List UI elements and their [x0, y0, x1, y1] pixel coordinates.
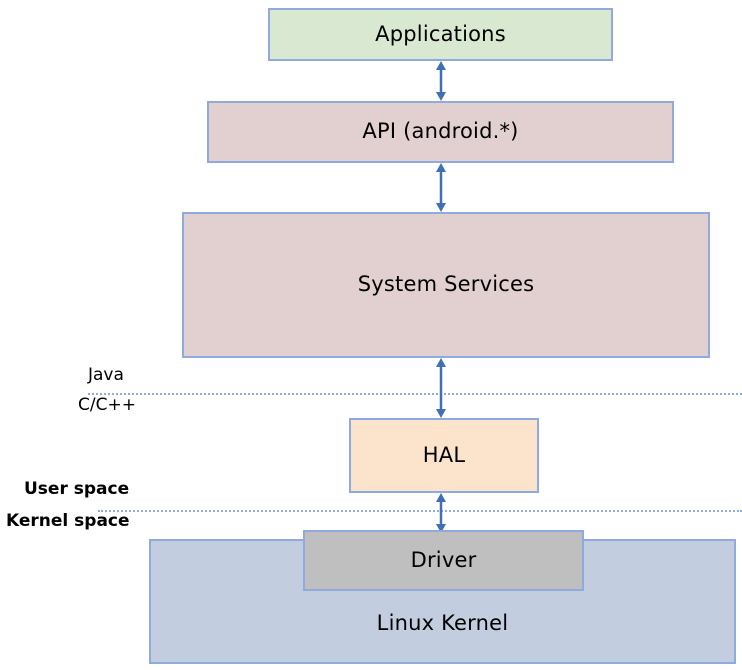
divider-user-kernel — [98, 510, 742, 512]
box-linux-kernel-label: Linux Kernel — [377, 612, 509, 635]
box-applications-label: Applications — [375, 23, 506, 46]
box-system-services-label: System Services — [358, 273, 535, 296]
divider-label-cpp: C/C++ — [78, 396, 136, 416]
divider-label-user-space: User space — [24, 480, 129, 500]
box-driver-label: Driver — [411, 549, 477, 572]
box-applications[interactable]: Applications — [268, 8, 613, 61]
box-driver[interactable]: Driver — [303, 530, 584, 591]
box-api[interactable]: API (android.*) — [207, 101, 674, 163]
arrow-api-system-services — [434, 163, 448, 212]
divider-java-native — [88, 393, 742, 395]
box-hal-label: HAL — [423, 444, 465, 467]
architecture-diagram: Applications API (android.*) System Serv… — [0, 0, 742, 670]
arrow-system-services-hal — [434, 358, 448, 418]
box-system-services[interactable]: System Services — [182, 212, 710, 358]
divider-label-kernel-space: Kernel space — [6, 512, 130, 532]
divider-label-java: Java — [88, 366, 124, 386]
box-api-label: API (android.*) — [362, 120, 518, 143]
box-hal[interactable]: HAL — [349, 418, 539, 493]
arrow-applications-api — [434, 61, 448, 101]
arrow-hal-driver — [434, 493, 448, 533]
